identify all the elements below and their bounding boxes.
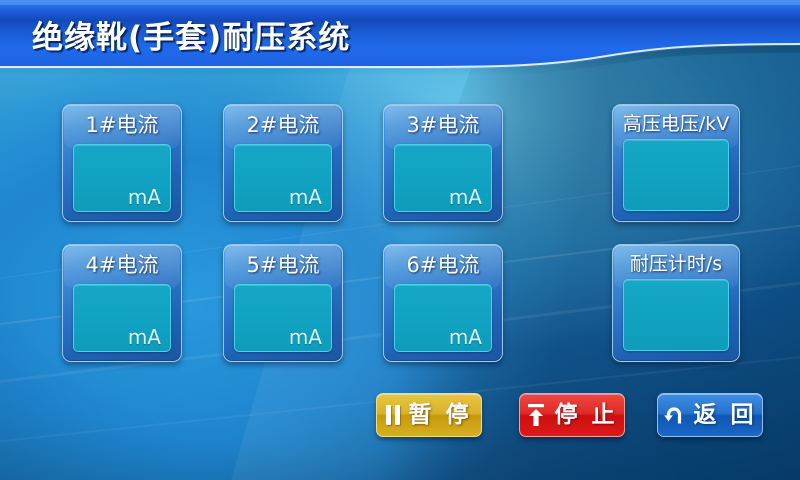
meter-label: 6#电流 [384, 245, 502, 276]
meter-value-box[interactable]: mA [394, 144, 492, 212]
app-screen: 绝缘靴(手套)耐压系统 1#电流 mA 2#电流 mA 3#电流 mA 高压电压… [0, 0, 800, 480]
meter-value-box[interactable]: mA [234, 284, 332, 352]
meter-current-4[interactable]: 4#电流 mA [62, 244, 182, 362]
meter-value-box[interactable] [623, 279, 729, 351]
meter-label: 高压电压/kV [613, 105, 739, 134]
meter-unit: mA [449, 327, 482, 347]
meter-label: 3#电流 [384, 105, 502, 136]
meter-high-voltage[interactable]: 高压电压/kV [612, 104, 740, 222]
meter-unit: mA [128, 187, 161, 207]
meter-unit: mA [128, 327, 161, 347]
meter-label: 1#电流 [63, 105, 181, 136]
meter-unit: mA [289, 187, 322, 207]
back-button-label: 返 回 [693, 404, 756, 427]
back-arrow-icon [663, 404, 685, 426]
meter-value-box[interactable]: mA [234, 144, 332, 212]
pause-button[interactable]: 暂 停 [376, 393, 482, 437]
meter-value-box[interactable]: mA [394, 284, 492, 352]
meter-value-box[interactable] [623, 139, 729, 211]
meter-value-box[interactable]: mA [73, 284, 171, 352]
meter-unit: mA [449, 187, 482, 207]
meter-current-6[interactable]: 6#电流 mA [383, 244, 503, 362]
stop-button[interactable]: 停 止 [519, 393, 625, 437]
meter-label: 2#电流 [224, 105, 342, 136]
pause-icon [386, 405, 400, 425]
meter-current-3[interactable]: 3#电流 mA [383, 104, 503, 222]
back-button[interactable]: 返 回 [657, 393, 763, 437]
meter-current-2[interactable]: 2#电流 mA [223, 104, 343, 222]
meter-label: 4#电流 [63, 245, 181, 276]
stop-button-label: 停 止 [554, 404, 617, 427]
meter-label: 5#电流 [224, 245, 342, 276]
meter-value-box[interactable]: mA [73, 144, 171, 212]
stop-arrow-icon [526, 403, 546, 427]
meter-current-5[interactable]: 5#电流 mA [223, 244, 343, 362]
meter-withstand-timer[interactable]: 耐压计时/s [612, 244, 740, 362]
meter-current-1[interactable]: 1#电流 mA [62, 104, 182, 222]
pause-button-label: 暂 停 [408, 404, 471, 427]
meter-unit: mA [289, 327, 322, 347]
meter-label: 耐压计时/s [613, 245, 739, 274]
